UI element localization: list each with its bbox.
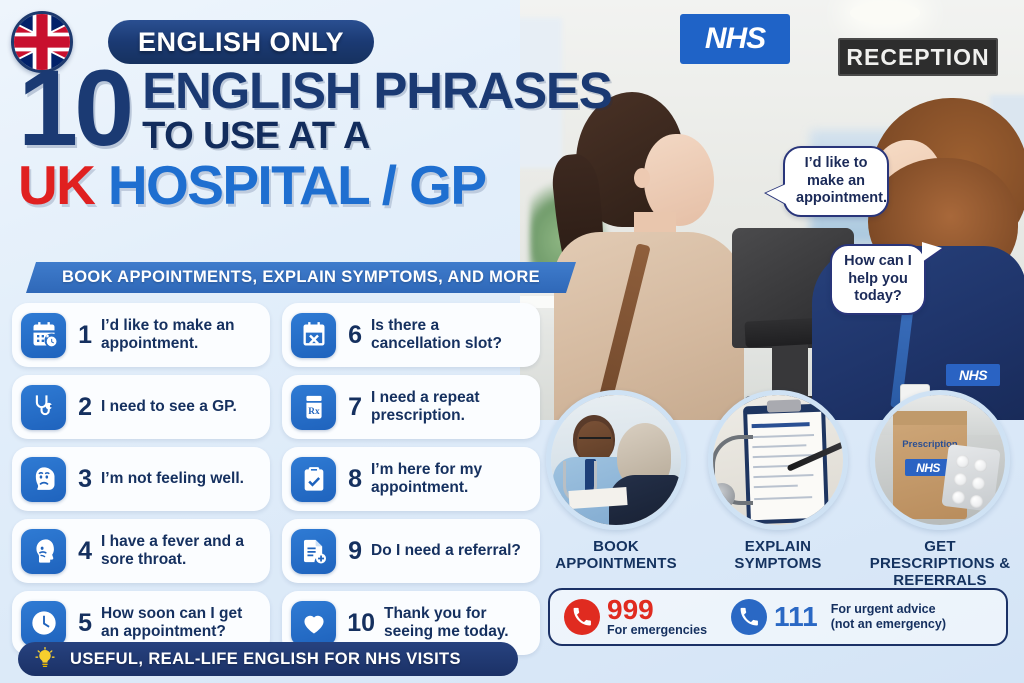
calendar-clock-icon	[21, 313, 66, 358]
phrase-card-6[interactable]: 6 Is there a cancellation slot?	[282, 303, 540, 367]
subtitle-banner: BOOK APPOINTMENTS, EXPLAIN SYMPTOMS, AND…	[26, 262, 576, 293]
title-uk-accent: UK	[18, 154, 94, 216]
emergency-label: For emergencies	[607, 623, 707, 637]
phrase-number: 7	[345, 395, 362, 420]
urgent-label-line2: (not an emergency)	[831, 617, 946, 632]
uniform-nhs-logo: NHS	[946, 364, 1000, 386]
phrase-number: 5	[75, 611, 92, 636]
category-circles: BOOK APPOINTMENTS	[540, 390, 1020, 590]
emergency-number: 999	[607, 597, 707, 624]
emergency-999: 999 For emergencies	[564, 597, 707, 638]
phrase-card-9[interactable]: 9 Do I need a referral?	[282, 519, 540, 583]
phrase-number: 2	[75, 395, 92, 420]
phrase-list: 1 I’d like to make an appointment. 2 I n…	[12, 303, 540, 655]
speech-bubble-staff: How can I help you today?	[830, 244, 926, 315]
urgent-label: For urgent advice (not an emergency)	[831, 602, 946, 632]
reception-sign: RECEPTION	[838, 38, 998, 76]
phrase-text: I’d like to make an appointment.	[101, 317, 261, 353]
head-sore-throat-icon	[21, 529, 66, 574]
infographic-canvas: NHS RECEPTION	[0, 0, 1024, 683]
ceiling-light	[850, 2, 920, 24]
prescription-bag-nhs-logo: NHS	[905, 459, 951, 476]
phone-icon	[731, 599, 767, 635]
urgent-number: 111	[774, 604, 818, 631]
english-only-badge: ENGLISH ONLY	[108, 20, 374, 64]
phrase-card-4[interactable]: 4 I have a fever and a sore throat.	[12, 519, 270, 583]
category-caption: EXPLAIN SYMPTOMS	[702, 539, 854, 573]
clock-icon	[21, 601, 66, 646]
category-caption: BOOK APPOINTMENTS	[540, 539, 692, 573]
phrase-text: I need to see a GP.	[101, 398, 237, 416]
phrase-number: 3	[75, 467, 92, 492]
pill-bottle-rx-icon: Rx	[291, 385, 336, 430]
title-line-2: TO USE AT A	[142, 117, 611, 156]
english-only-label: ENGLISH ONLY	[138, 27, 344, 58]
stethoscope-icon	[21, 385, 66, 430]
document-plus-icon	[291, 529, 336, 574]
phrase-card-7[interactable]: Rx 7 I need a repeat prescription.	[282, 375, 540, 439]
phrase-number: 8	[345, 467, 362, 492]
calendar-cancel-icon	[291, 313, 336, 358]
nhs-wall-sign-label: NHS	[705, 22, 765, 56]
phrase-card-8[interactable]: 8 I’m here for my appointment.	[282, 447, 540, 511]
phrase-text: I have a fever and a sore throat.	[101, 533, 261, 569]
reception-sign-label: RECEPTION	[846, 44, 989, 71]
prescription-bag-photo: Prescription NHS	[870, 390, 1010, 530]
speech-bubble-patient: I’d like to make an appointment.	[783, 146, 889, 217]
title-number: 10	[18, 64, 130, 153]
category-book-appointments: BOOK APPOINTMENTS	[540, 390, 692, 590]
phrase-text: Is there a cancellation slot?	[371, 317, 531, 353]
bottom-banner-label: USEFUL, REAL-LIFE ENGLISH FOR NHS VISITS	[70, 650, 461, 669]
phrase-number: 10	[345, 611, 375, 636]
lightbulb-icon	[34, 647, 56, 671]
phrase-number: 9	[345, 539, 362, 564]
phrase-card-1[interactable]: 1 I’d like to make an appointment.	[12, 303, 270, 367]
phrase-text: I need a repeat prescription.	[371, 389, 531, 425]
nhs-wall-sign: NHS	[680, 14, 790, 64]
phrase-number: 1	[75, 323, 92, 348]
phrase-text: I’m not feeling well.	[101, 470, 244, 488]
urgent-label-line1: For urgent advice	[831, 602, 946, 617]
phrase-text: How soon can I get an appointment?	[101, 605, 261, 641]
bottom-banner: USEFUL, REAL-LIFE ENGLISH FOR NHS VISITS	[18, 642, 518, 676]
clipboard-stethoscope-photo	[708, 390, 848, 530]
category-caption: GET PRESCRIPTIONS & REFERRALS	[864, 539, 1016, 590]
phrase-number: 6	[345, 323, 362, 348]
phrase-card-3[interactable]: 3 I’m not feeling well.	[12, 447, 270, 511]
subtitle-label: BOOK APPOINTMENTS, EXPLAIN SYMPTOMS, AND…	[62, 268, 540, 287]
phrase-text: I’m here for my appointment.	[371, 461, 531, 497]
phone-icon	[564, 599, 600, 635]
title-hospital-gp: HOSPITAL / GP	[94, 154, 485, 216]
phrase-number: 4	[75, 539, 92, 564]
title-line-3: UK HOSPITAL / GP	[18, 158, 678, 213]
emergency-111: 111 For urgent advice (not an emergency)	[731, 599, 946, 635]
phrase-card-2[interactable]: 2 I need to see a GP.	[12, 375, 270, 439]
category-get-prescriptions: Prescription NHS GET PRESCRIPTIONS & REF…	[864, 390, 1016, 590]
page-title: 10 ENGLISH PHRASES TO USE AT A UK HOSPIT…	[18, 64, 678, 213]
phrase-text: Do I need a referral?	[371, 542, 521, 560]
title-line-1: ENGLISH PHRASES	[142, 68, 611, 115]
sick-face-icon	[21, 457, 66, 502]
svg-text:Rx: Rx	[308, 407, 320, 417]
emergency-numbers-box: 999 For emergencies 111 For urgent advic…	[548, 588, 1008, 646]
heart-icon	[291, 601, 336, 646]
phrase-text: Thank you for seeing me today.	[384, 605, 531, 641]
phrase-column-right: 6 Is there a cancellation slot? Rx 7 I n…	[282, 303, 540, 655]
category-explain-symptoms: EXPLAIN SYMPTOMS	[702, 390, 854, 590]
doctor-consultation-photo	[546, 390, 686, 530]
phrase-column-left: 1 I’d like to make an appointment. 2 I n…	[12, 303, 270, 655]
clipboard-check-icon	[291, 457, 336, 502]
